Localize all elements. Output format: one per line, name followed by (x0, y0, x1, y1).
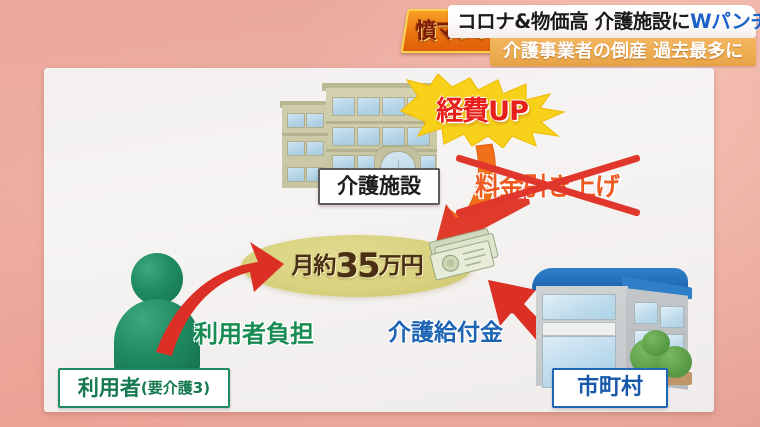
headline-sub-bar: 介護事業者の倒産 過去最多に (490, 38, 756, 66)
cost-number: 35 (335, 249, 378, 283)
headline-part-1: コロナ&物価高 (457, 10, 595, 33)
user-label-box: 利用者(要介護3) (58, 368, 230, 408)
municipality-label-text: 市町村 (577, 377, 643, 399)
broadcast-headline: 憤マン! コロナ&物価高 介護施設にWパンチ! 介護事業者の倒産 過去最多に (404, 5, 756, 67)
municipality-label-box: 市町村 (552, 368, 668, 408)
benefit-label: 介護給付金 (388, 322, 503, 345)
headline-main-bar: コロナ&物価高 介護施設にWパンチ! (448, 5, 756, 38)
facility-label-box: 介護施設 (318, 168, 440, 205)
user-label-note: (要介護3) (141, 381, 210, 396)
screenshot-stage: 憤マン! コロナ&物価高 介護施設にWパンチ! 介護事業者の倒産 過去最多に (0, 0, 760, 427)
headline-sub-text: 介護事業者の倒産 過去最多に (503, 43, 743, 61)
expense-up-text: 経費UP (398, 74, 566, 148)
headline-highlight-w: W (690, 10, 711, 33)
headline-part-3: パンチ! (711, 10, 760, 33)
fee-hike-struck-group: 料金引き上げ (456, 156, 638, 214)
user-burden-label: 利用者負担 (194, 322, 314, 346)
headline-main-text: コロナ&物価高 介護施設にWパンチ! (457, 12, 760, 32)
user-label-main: 利用者 (78, 378, 141, 399)
diagram-panel: 経費UP 介護施設 料金引き上げ (44, 68, 714, 412)
cost-suffix: 万円 (379, 255, 423, 278)
facility-label-text: 介護施設 (337, 176, 421, 197)
cost-prefix: 月約 (291, 255, 335, 278)
starburst-icon: 経費UP (398, 74, 566, 148)
headline-part-2: 介護施設に (595, 10, 691, 33)
